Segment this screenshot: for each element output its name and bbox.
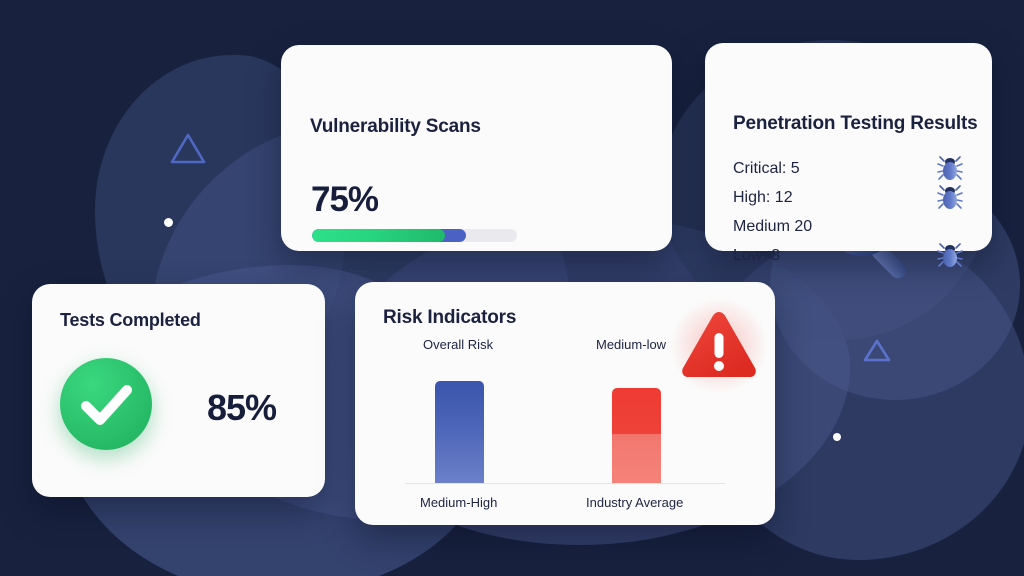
triangle-outline-icon	[168, 131, 208, 167]
penetration-testing-card[interactable]: Penetration Testing Results Critical: 5	[705, 43, 992, 251]
decorative-dot	[164, 218, 173, 227]
pentest-severity-label: Critical: 5	[733, 160, 800, 178]
bar-top-label: Overall Risk	[423, 337, 493, 352]
pentest-severity-label: Low: 3	[733, 247, 780, 265]
vulnerability-percent-value: 75%	[311, 180, 378, 220]
tests-completed-percent-value: 85%	[207, 387, 276, 429]
progress-fill-green	[312, 229, 445, 242]
chart-baseline	[405, 483, 725, 484]
bar-category-label: Industry Average	[586, 495, 683, 510]
decorative-dot	[833, 433, 841, 441]
tests-completed-card[interactable]: Tests Completed 85%	[32, 284, 325, 497]
pentest-severity-label: Medium 20	[733, 218, 812, 236]
dashboard-stage: Vulnerability Scans 75%	[0, 0, 1024, 576]
bug-icon	[935, 153, 965, 183]
pentest-result-list: Critical: 5	[733, 158, 965, 274]
warning-triangle-icon	[678, 306, 760, 384]
vulnerability-scans-card[interactable]: Vulnerability Scans 75%	[281, 45, 672, 251]
bug-icon	[935, 240, 965, 270]
triangle-outline-icon	[862, 337, 892, 364]
list-item[interactable]: High: 12	[733, 187, 965, 216]
page-title: Penetration Testing Results	[733, 113, 977, 135]
bug-icon	[935, 182, 965, 212]
bar-top-label: Medium-low	[596, 337, 666, 352]
vulnerability-progress-bar[interactable]	[312, 229, 517, 242]
bar-category-label: Medium-High	[420, 495, 497, 510]
list-item[interactable]: Low: 3	[733, 245, 965, 274]
check-circle-icon	[60, 358, 152, 450]
page-title: Tests Completed	[60, 310, 201, 331]
pentest-severity-label: High: 12	[733, 189, 793, 207]
risk-bar-chart: Overall Risk Medium-High Medium-low Indu…	[355, 282, 775, 525]
list-item[interactable]: Medium 20	[733, 216, 965, 245]
risk-indicators-card[interactable]: Risk Indicators Overall Risk Medium-High…	[355, 282, 775, 525]
page-title: Vulnerability Scans	[310, 116, 481, 138]
list-item[interactable]: Critical: 5	[733, 158, 965, 187]
bar-overall-risk[interactable]	[435, 381, 484, 483]
bar-industry-average[interactable]	[612, 388, 661, 483]
